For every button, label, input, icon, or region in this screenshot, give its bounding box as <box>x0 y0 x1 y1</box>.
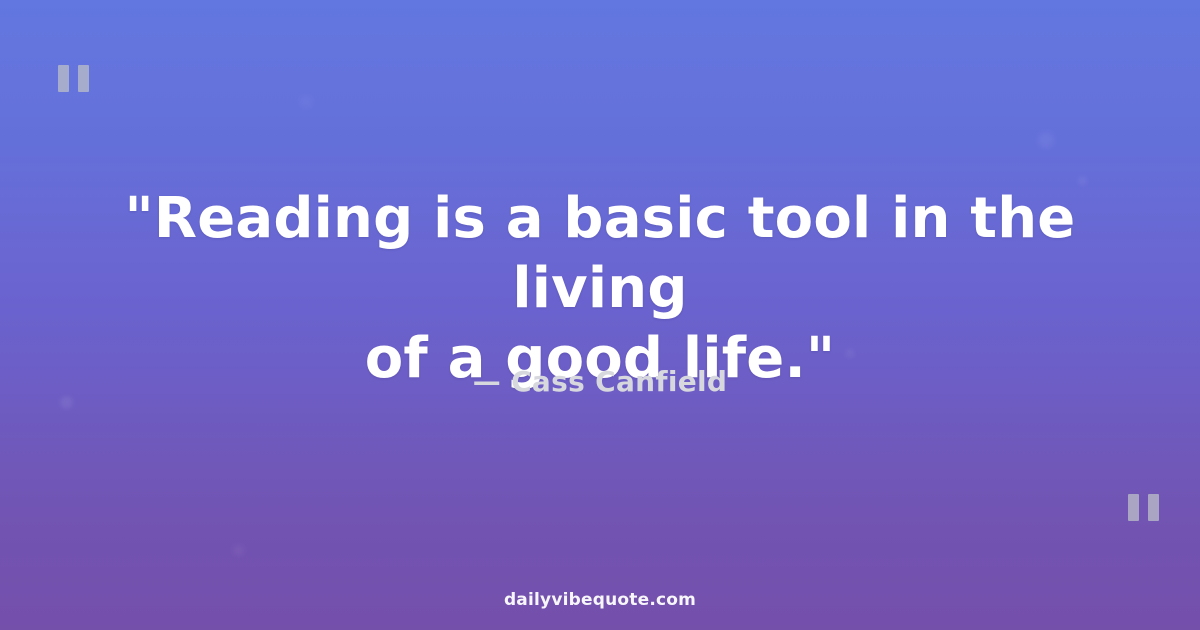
quote-bar-left <box>58 65 69 92</box>
quote-bar-right <box>1148 494 1159 521</box>
decorative-speck <box>233 545 244 556</box>
decorative-speck <box>300 96 312 108</box>
quote-bar-left <box>1128 494 1139 521</box>
quote-bar-right <box>78 65 89 92</box>
close-quote-icon <box>1128 494 1159 521</box>
site-watermark: dailyvibequote.com <box>0 588 1200 612</box>
quote-attribution: — Cass Canfield <box>0 362 1200 402</box>
quote-line-1: "Reading is a basic tool in the living <box>56 184 1144 324</box>
open-quote-icon <box>58 65 89 92</box>
quote-card: "Reading is a basic tool in the living o… <box>0 0 1200 630</box>
decorative-speck <box>1038 132 1054 148</box>
